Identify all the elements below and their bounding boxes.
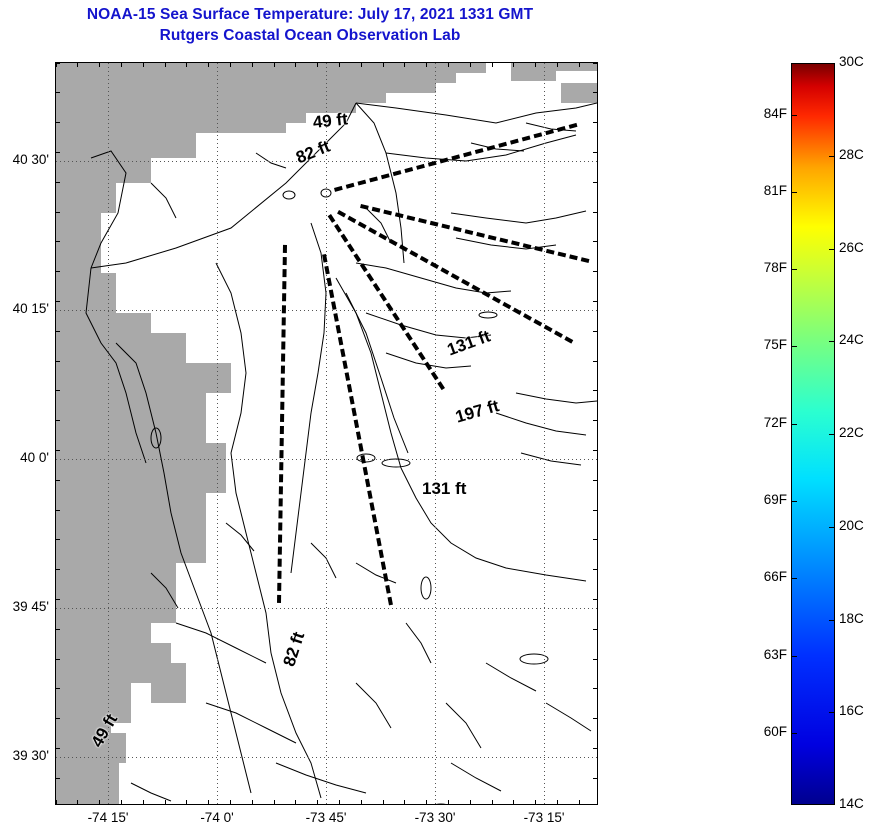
colorbar-tick-celsius	[829, 527, 835, 528]
gridline-vertical	[544, 63, 545, 804]
colorbar-label-fahrenheit: 72F	[745, 415, 787, 430]
map-plot-area[interactable]: 49 ft82 ft131 ft197 ft131 ft82 ft49 ft	[55, 62, 598, 805]
y-axis-tick-right	[593, 659, 598, 660]
y-axis-tick-right	[593, 241, 598, 242]
gridline-horizontal	[56, 757, 597, 758]
x-axis-tick-top	[143, 62, 144, 67]
y-axis-tick-right	[593, 390, 598, 391]
x-axis-tick-bottom	[339, 800, 340, 805]
x-axis-tick-bottom	[426, 800, 427, 805]
y-axis-tick-left	[55, 659, 60, 660]
colorbar-tick-celsius	[829, 712, 835, 713]
y-axis-tick-right	[593, 361, 598, 362]
x-axis-tick-bottom	[448, 800, 449, 805]
colorbar-tick-fahrenheit	[791, 269, 797, 270]
x-axis-tick-bottom	[143, 800, 144, 805]
x-axis-tick-bottom	[186, 800, 187, 805]
x-axis-tick-top	[470, 62, 471, 67]
y-axis-tick-left	[55, 599, 60, 600]
y-axis-tick-left	[55, 63, 60, 64]
x-axis-label: -74 15'	[68, 810, 148, 825]
x-axis-tick-top	[208, 62, 209, 67]
y-axis-tick-right	[593, 569, 598, 570]
x-axis-tick-bottom	[535, 800, 536, 805]
x-axis-label: -73 45'	[286, 810, 366, 825]
x-axis-tick-top	[492, 62, 493, 67]
y-axis-tick-left	[55, 152, 60, 153]
colorbar-label-celsius: 30C	[839, 54, 864, 69]
y-axis-tick-left	[55, 450, 60, 451]
gridline-vertical	[108, 63, 109, 804]
colorbar-label-fahrenheit: 66F	[745, 569, 787, 584]
bathymetry-detail-layer	[151, 189, 548, 804]
gridline-horizontal	[56, 459, 597, 460]
x-axis-tick-bottom	[361, 800, 362, 805]
x-axis-tick-top	[99, 62, 100, 67]
y-axis-tick-right	[593, 450, 598, 451]
x-axis-tick-bottom	[252, 800, 253, 805]
x-axis-tick-bottom	[208, 800, 209, 805]
title-line-1: NOAA-15 Sea Surface Temperature: July 17…	[0, 4, 620, 25]
colorbar-tick-fahrenheit	[791, 192, 797, 193]
y-axis-label: 40 30'	[0, 152, 49, 167]
y-axis-tick-left	[55, 92, 60, 93]
y-axis-tick-left	[55, 122, 60, 123]
y-axis-tick-right	[593, 629, 598, 630]
x-axis-tick-top	[230, 62, 231, 67]
y-axis-tick-right	[593, 63, 598, 64]
y-axis-tick-right	[593, 420, 598, 421]
title-line-2: Rutgers Coastal Ocean Observation Lab	[0, 25, 620, 46]
y-axis-tick-right	[593, 122, 598, 123]
colorbar-label-celsius: 16C	[839, 703, 864, 718]
y-axis-tick-right	[593, 510, 598, 511]
y-axis-tick-right	[593, 182, 598, 183]
x-axis-tick-bottom	[99, 800, 100, 805]
y-axis-tick-right	[593, 271, 598, 272]
x-axis-tick-top	[557, 62, 558, 67]
colorbar-tick-celsius	[829, 249, 835, 250]
y-axis-tick-right	[593, 212, 598, 213]
x-axis-tick-top	[165, 62, 166, 67]
colorbar-label-fahrenheit: 78F	[745, 260, 787, 275]
colorbar-tick-celsius	[829, 156, 835, 157]
y-axis-tick-right	[593, 92, 598, 93]
y-axis-tick-right	[593, 599, 598, 600]
y-axis-tick-right	[593, 331, 598, 332]
x-axis-tick-bottom	[317, 800, 318, 805]
colorbar-tick-celsius	[829, 620, 835, 621]
x-axis-tick-top	[121, 62, 122, 67]
y-axis-tick-right	[593, 688, 598, 689]
x-axis-tick-top	[426, 62, 427, 67]
y-axis-tick-right	[593, 778, 598, 779]
y-axis-tick-left	[55, 390, 60, 391]
x-axis-tick-bottom	[383, 800, 384, 805]
colorbar-label-fahrenheit: 84F	[745, 106, 787, 121]
x-axis-tick-bottom	[295, 800, 296, 805]
colorbar-label-celsius: 14C	[839, 796, 864, 811]
x-axis-tick-top	[274, 62, 275, 67]
y-axis-tick-left	[55, 301, 60, 302]
x-axis-tick-bottom	[121, 800, 122, 805]
y-axis-tick-right	[593, 301, 598, 302]
gridline-horizontal	[56, 161, 597, 162]
x-axis-tick-top	[404, 62, 405, 67]
colorbar-label-celsius: 28C	[839, 147, 864, 162]
x-axis-tick-bottom	[557, 800, 558, 805]
x-axis-tick-bottom	[470, 800, 471, 805]
depth-label: 131 ft	[422, 479, 466, 499]
y-axis-tick-left	[55, 718, 60, 719]
x-axis-label: -73 30'	[395, 810, 475, 825]
y-axis-tick-left	[55, 241, 60, 242]
y-axis-tick-right	[593, 718, 598, 719]
x-axis-tick-bottom	[56, 800, 57, 805]
colorbar-label-celsius: 22C	[839, 425, 864, 440]
y-axis-tick-left	[55, 510, 60, 511]
x-axis-label: -74 0'	[177, 810, 257, 825]
x-axis-tick-top	[295, 62, 296, 67]
x-axis-tick-bottom	[492, 800, 493, 805]
colorbar-label-fahrenheit: 60F	[745, 724, 787, 739]
depth-label: 49 ft	[312, 109, 349, 133]
gridline-vertical	[217, 63, 218, 804]
colorbar-tick-fahrenheit	[791, 501, 797, 502]
y-axis-tick-left	[55, 569, 60, 570]
colorbar-label-celsius: 26C	[839, 240, 864, 255]
x-axis-tick-bottom	[165, 800, 166, 805]
y-axis-tick-right	[593, 748, 598, 749]
gridline-vertical	[326, 63, 327, 804]
colorbar-label-fahrenheit: 63F	[745, 647, 787, 662]
colorbar-tick-fahrenheit	[791, 115, 797, 116]
gridline-horizontal	[56, 608, 597, 609]
y-axis-tick-left	[55, 420, 60, 421]
y-axis-tick-left	[55, 331, 60, 332]
x-axis-tick-top	[535, 62, 536, 67]
y-axis-tick-right	[593, 539, 598, 540]
colorbar-tick-fahrenheit	[791, 578, 797, 579]
x-axis-tick-top	[361, 62, 362, 67]
y-axis-label: 39 45'	[0, 599, 49, 614]
page-title: NOAA-15 Sea Surface Temperature: July 17…	[0, 4, 620, 46]
y-axis-tick-left	[55, 688, 60, 689]
x-axis-tick-top	[317, 62, 318, 67]
y-axis-tick-left	[55, 480, 60, 481]
colorbar-label-celsius: 24C	[839, 332, 864, 347]
colorbar-tick-celsius	[829, 434, 835, 435]
x-axis-tick-bottom	[513, 800, 514, 805]
x-axis-tick-top	[77, 62, 78, 67]
gridline-vertical	[435, 63, 436, 804]
x-axis-tick-top	[513, 62, 514, 67]
x-axis-label: -73 15'	[504, 810, 584, 825]
y-axis-tick-left	[55, 182, 60, 183]
x-axis-tick-top	[339, 62, 340, 67]
x-axis-tick-top	[383, 62, 384, 67]
colorbar-label-celsius: 20C	[839, 518, 864, 533]
colorbar-label-fahrenheit: 69F	[745, 492, 787, 507]
colorbar-label-fahrenheit: 75F	[745, 337, 787, 352]
y-axis-label: 40 0'	[0, 450, 49, 465]
y-axis-tick-left	[55, 778, 60, 779]
colorbar-label-fahrenheit: 81F	[745, 183, 787, 198]
y-axis-tick-right	[593, 480, 598, 481]
x-axis-tick-bottom	[404, 800, 405, 805]
y-axis-tick-right	[593, 152, 598, 153]
x-axis-tick-bottom	[274, 800, 275, 805]
x-axis-tick-bottom	[77, 800, 78, 805]
y-axis-label: 39 30'	[0, 748, 49, 763]
x-axis-tick-top	[448, 62, 449, 67]
y-axis-tick-left	[55, 271, 60, 272]
y-axis-tick-left	[55, 748, 60, 749]
y-axis-tick-left	[55, 539, 60, 540]
y-axis-tick-left	[55, 212, 60, 213]
colorbar-tick-fahrenheit	[791, 656, 797, 657]
y-axis-tick-left	[55, 361, 60, 362]
y-axis-tick-left	[55, 629, 60, 630]
x-axis-tick-top	[186, 62, 187, 67]
y-axis-label: 40 15'	[0, 301, 49, 316]
x-axis-tick-top	[579, 62, 580, 67]
x-axis-tick-top	[252, 62, 253, 67]
colorbar-tick-fahrenheit	[791, 346, 797, 347]
colorbar-label-celsius: 18C	[839, 611, 864, 626]
x-axis-tick-bottom	[579, 800, 580, 805]
colorbar-tick-celsius	[829, 341, 835, 342]
x-axis-tick-bottom	[230, 800, 231, 805]
colorbar-tick-fahrenheit	[791, 424, 797, 425]
colorbar-tick-fahrenheit	[791, 733, 797, 734]
